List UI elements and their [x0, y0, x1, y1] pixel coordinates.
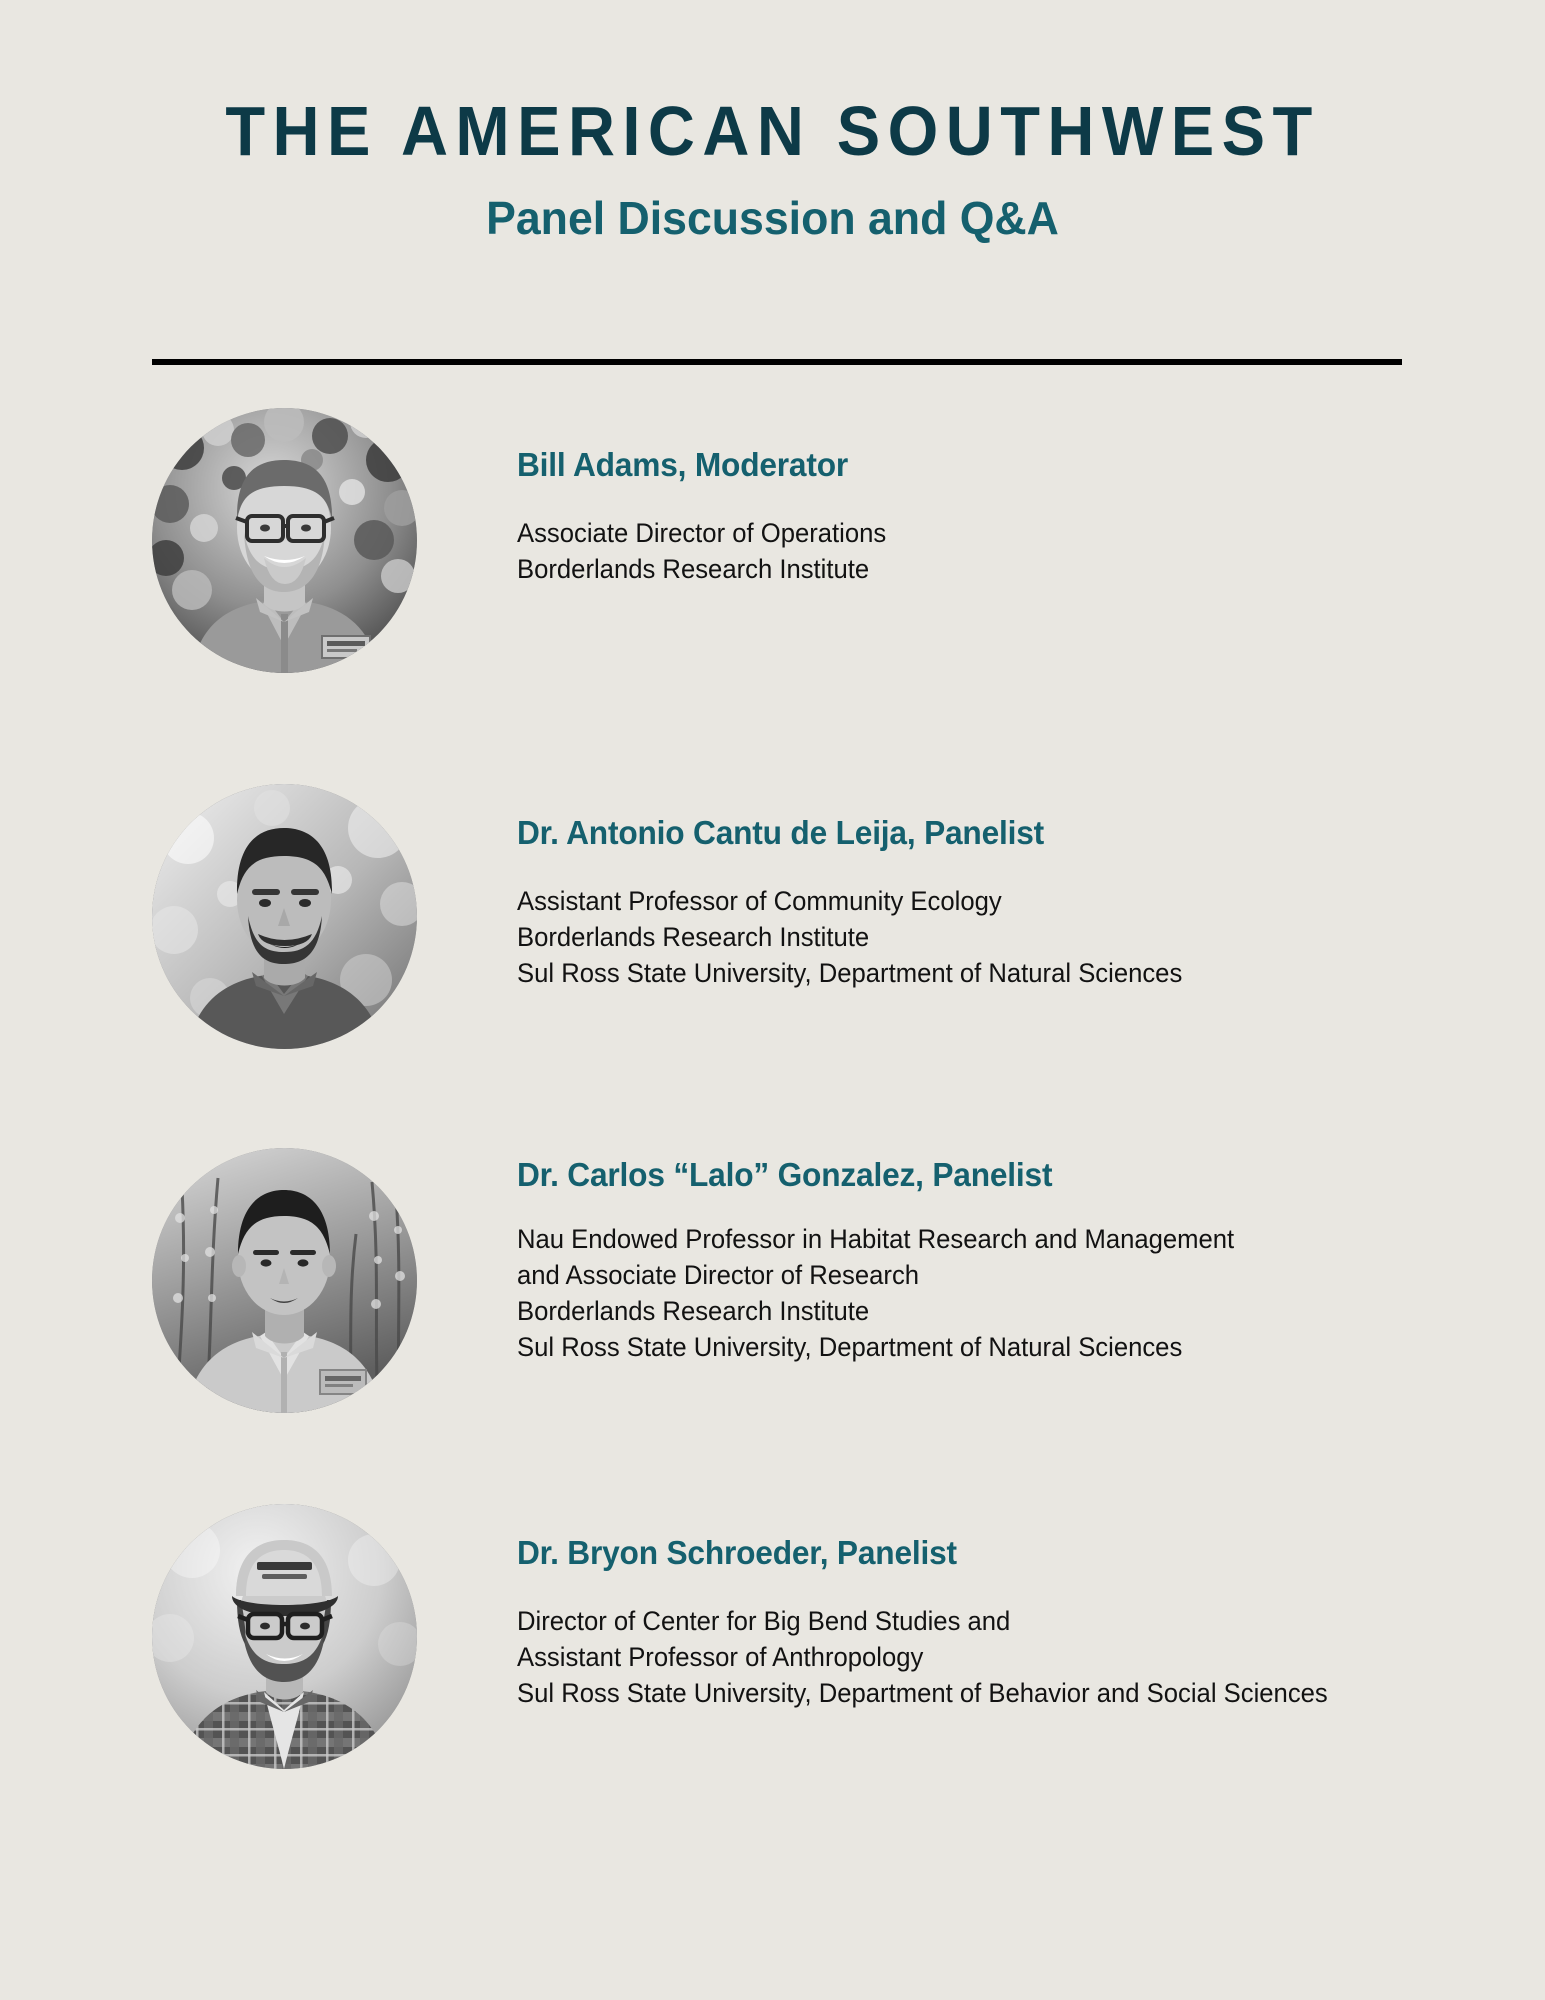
poster-header: THE AMERICAN SOUTHWEST Panel Discussion …: [0, 0, 1545, 244]
panelist-info: Dr. Carlos “Lalo” Gonzalez, Panelist Nau…: [422, 1148, 1545, 1366]
panelist-detail: Sul Ross State University, Department of…: [517, 1329, 1494, 1365]
panelist-name: Bill Adams, Moderator: [517, 446, 1504, 485]
panelist-info: Bill Adams, Moderator Associate Director…: [422, 408, 1545, 587]
avatar: [152, 784, 417, 1049]
avatar-container: [152, 1504, 422, 1769]
panelist-detail: Assistant Professor of Anthropology: [517, 1639, 1494, 1675]
avatar-container: [152, 784, 422, 1049]
panelist-name: Dr. Antonio Cantu de Leija, Panelist: [517, 814, 1504, 853]
panelist-detail: Borderlands Research Institute: [517, 1293, 1494, 1329]
list-item: Dr. Bryon Schroeder, Panelist Director o…: [0, 1504, 1545, 1804]
list-item: Dr. Carlos “Lalo” Gonzalez, Panelist Nau…: [0, 1148, 1545, 1448]
avatar: [152, 1504, 417, 1769]
avatar: [152, 1148, 417, 1413]
panelist-detail: Nau Endowed Professor in Habitat Researc…: [517, 1221, 1494, 1257]
poster: THE AMERICAN SOUTHWEST Panel Discussion …: [0, 0, 1545, 2000]
header-divider: [152, 359, 1402, 365]
panelist-name: Dr. Carlos “Lalo” Gonzalez, Panelist: [517, 1156, 1504, 1195]
panelist-detail: Borderlands Research Institute: [517, 551, 1494, 587]
panelist-name: Dr. Bryon Schroeder, Panelist: [517, 1534, 1504, 1573]
page-title: THE AMERICAN SOUTHWEST: [54, 96, 1491, 167]
panelist-info: Dr. Antonio Cantu de Leija, Panelist Ass…: [422, 784, 1545, 991]
page-subtitle: Panel Discussion and Q&A: [23, 193, 1522, 244]
panelist-detail: Associate Director of Operations: [517, 515, 1494, 551]
panelist-detail: Assistant Professor of Community Ecology: [517, 883, 1494, 919]
list-item: Dr. Antonio Cantu de Leija, Panelist Ass…: [0, 784, 1545, 1084]
panelist-detail: and Associate Director of Research: [517, 1257, 1494, 1293]
avatar-container: [152, 1148, 422, 1413]
panelist-detail: Sul Ross State University, Department of…: [517, 955, 1494, 991]
avatar-container: [152, 408, 422, 673]
panelist-detail: Borderlands Research Institute: [517, 919, 1494, 955]
avatar: [152, 408, 417, 673]
panelist-info: Dr. Bryon Schroeder, Panelist Director o…: [422, 1504, 1545, 1711]
panelist-list: Bill Adams, Moderator Associate Director…: [0, 408, 1545, 1804]
panelist-detail: Sul Ross State University, Department of…: [517, 1675, 1494, 1711]
panelist-detail: Director of Center for Big Bend Studies …: [517, 1603, 1494, 1639]
list-item: Bill Adams, Moderator Associate Director…: [0, 408, 1545, 708]
